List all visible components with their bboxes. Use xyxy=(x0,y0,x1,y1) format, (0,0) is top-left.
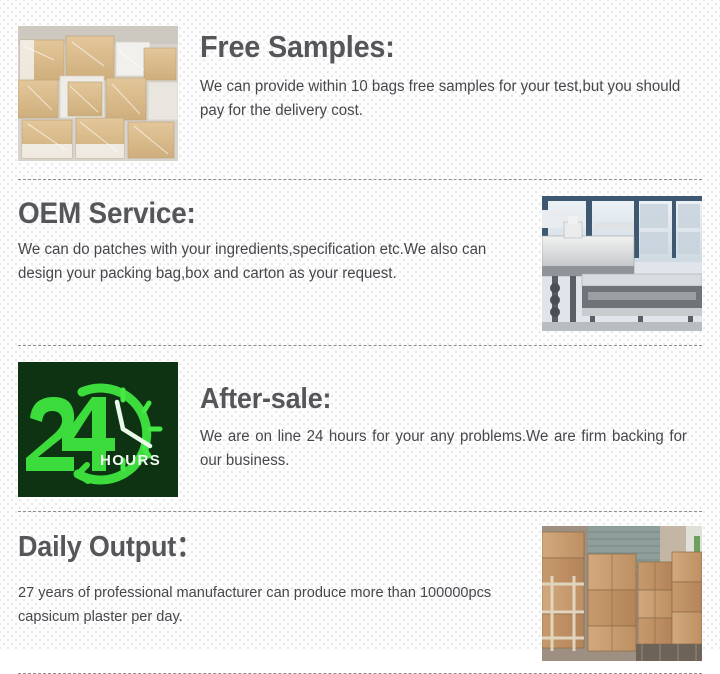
section-after-sale: HOURS After-sale: We are on line 24 hour… xyxy=(0,346,720,511)
24-hours-clock-badge: HOURS xyxy=(18,362,178,497)
section-body: We can provide within 10 bags free sampl… xyxy=(200,75,687,123)
section-body: 27 years of professional manufacturer ca… xyxy=(18,581,505,628)
warehouse-cartons-photo xyxy=(542,526,702,661)
section-oem-service: OEM Service: We can do patches with your… xyxy=(0,180,720,345)
section-content: Daily Output： 27 years of professional m… xyxy=(18,512,702,673)
section-free-samples: Free Samples: We can provide within 10 b… xyxy=(0,0,720,179)
svg-text:HOURS: HOURS xyxy=(100,452,161,469)
section-text: OEM Service: We can do patches with your… xyxy=(18,196,542,286)
section-content: Free Samples: We can provide within 10 b… xyxy=(18,0,702,179)
section-daily-output: Daily Output： 27 years of professional m… xyxy=(0,512,720,673)
packed-sample-bags-photo xyxy=(18,26,178,161)
section-heading: Daily Output： xyxy=(18,532,485,563)
service-info-panel: Free Samples: We can provide within 10 b… xyxy=(0,0,720,651)
section-content: HOURS After-sale: We are on line 24 hour… xyxy=(18,346,702,511)
section-heading: OEM Service: xyxy=(18,198,485,230)
section-content: OEM Service: We can do patches with your… xyxy=(18,180,702,345)
section-body: We can do patches with your ingredients,… xyxy=(18,238,505,286)
section-heading: After-sale: xyxy=(200,384,667,415)
section-list: Free Samples: We can provide within 10 b… xyxy=(0,0,720,674)
section-text: After-sale: We are on line 24 hours for … xyxy=(178,362,702,473)
section-body: We are on line 24 hours for your any pro… xyxy=(200,425,687,473)
section-text: Daily Output： 27 years of professional m… xyxy=(18,526,542,628)
section-heading: Free Samples: xyxy=(200,30,667,63)
section-text: Free Samples: We can provide within 10 b… xyxy=(178,26,702,124)
factory-production-line-photo xyxy=(542,196,702,331)
